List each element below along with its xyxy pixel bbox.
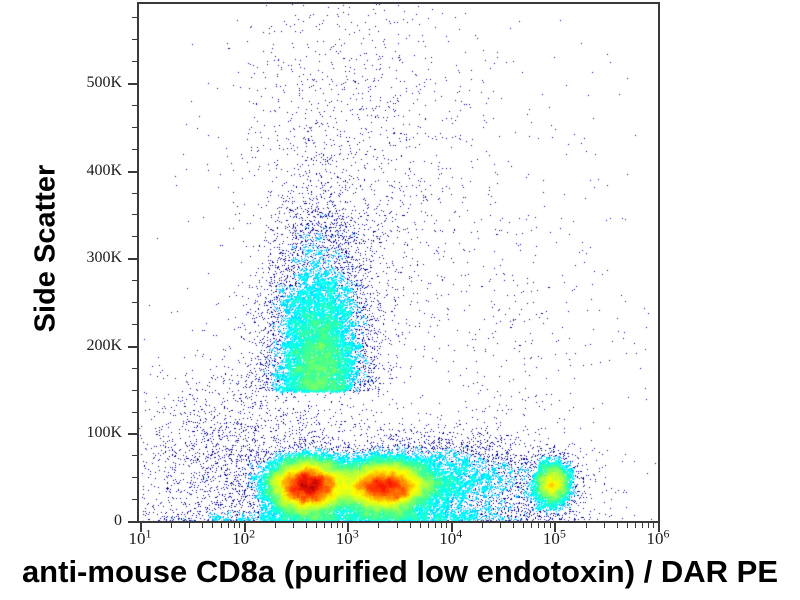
x-tick-minor <box>140 523 141 528</box>
y-tick-minor <box>132 412 137 413</box>
x-tick-label: 105 <box>543 529 566 549</box>
x-tick-minor <box>171 523 172 528</box>
x-tick-minor <box>482 523 483 528</box>
y-tick-label: 200K <box>86 337 122 355</box>
x-tick-minor <box>331 523 332 528</box>
x-tick-label: 103 <box>336 529 359 549</box>
y-tick-minor <box>132 236 137 237</box>
y-tick-major <box>128 83 137 85</box>
x-tick-minor <box>550 523 551 528</box>
y-tick-major <box>128 433 137 435</box>
y-tick-label: 0 <box>114 512 122 530</box>
y-tick-minor <box>132 477 137 478</box>
x-tick-minor <box>653 523 654 528</box>
y-axis-line <box>137 2 139 523</box>
x-tick-label: 104 <box>439 529 462 549</box>
x-tick-minor <box>604 523 605 528</box>
y-tick-minor <box>132 193 137 194</box>
y-tick-minor <box>132 390 137 391</box>
x-tick-minor <box>435 523 436 528</box>
x-tick-minor <box>586 523 587 528</box>
x-tick-minor <box>446 523 447 528</box>
y-tick-major <box>128 346 137 348</box>
y-tick-minor <box>132 214 137 215</box>
x-tick-label: 101 <box>129 529 152 549</box>
y-tick-minor <box>132 149 137 150</box>
x-tick-minor <box>275 523 276 528</box>
y-tick-major <box>128 521 137 523</box>
x-tick-minor <box>316 523 317 528</box>
x-tick-minor <box>420 523 421 528</box>
y-tick-major <box>128 171 137 173</box>
y-tick-label: 400K <box>86 162 122 180</box>
x-axis-line <box>137 521 660 523</box>
x-tick-minor <box>410 523 411 528</box>
x-tick-minor <box>513 523 514 528</box>
x-tick-minor <box>500 523 501 528</box>
x-tick-minor <box>378 523 379 528</box>
x-tick-minor <box>538 523 539 528</box>
x-tick-minor <box>627 523 628 528</box>
y-tick-minor <box>132 39 137 40</box>
x-tick-label: 102 <box>232 529 255 549</box>
x-tick-minor <box>293 523 294 528</box>
x-tick-minor <box>617 523 618 528</box>
y-tick-minor <box>132 61 137 62</box>
y-tick-label: 500K <box>86 74 122 92</box>
y-tick-minor <box>132 499 137 500</box>
y-tick-label: 300K <box>86 249 122 267</box>
y-tick-label: 100K <box>86 424 122 442</box>
y-tick-minor <box>132 368 137 369</box>
scatter-density-canvas <box>137 4 658 523</box>
x-tick-minor <box>635 523 636 528</box>
plot-area <box>137 2 660 523</box>
x-tick-minor <box>234 523 235 528</box>
y-tick-major <box>128 258 137 260</box>
y-tick-minor <box>132 302 137 303</box>
x-tick-minor <box>441 523 442 528</box>
x-tick-minor <box>544 523 545 528</box>
x-tick-minor <box>642 523 643 528</box>
x-tick-minor <box>212 523 213 528</box>
x-tick-minor <box>342 523 343 528</box>
x-tick-minor <box>337 523 338 528</box>
flow-cytometry-plot: Side Scatter 1011021031041051060100K200K… <box>0 0 800 600</box>
x-tick-minor <box>189 523 190 528</box>
y-tick-minor <box>132 127 137 128</box>
x-tick-minor <box>221 523 222 528</box>
x-tick-minor <box>648 523 649 528</box>
y-axis-title: Side Scatter <box>30 99 63 399</box>
y-tick-minor <box>132 105 137 106</box>
x-tick-minor <box>523 523 524 528</box>
x-tick-label: 106 <box>647 529 670 549</box>
x-tick-minor <box>239 523 240 528</box>
y-tick-minor <box>132 280 137 281</box>
x-tick-minor <box>531 523 532 528</box>
y-tick-minor <box>132 17 137 18</box>
y-tick-minor <box>132 455 137 456</box>
x-tick-minor <box>202 523 203 528</box>
x-tick-minor <box>428 523 429 528</box>
x-tick-minor <box>306 523 307 528</box>
x-axis-title: anti-mouse CD8a (purified low endotoxin)… <box>0 554 800 590</box>
x-tick-minor <box>228 523 229 528</box>
y-tick-minor <box>132 324 137 325</box>
x-tick-minor <box>324 523 325 528</box>
x-tick-minor <box>397 523 398 528</box>
